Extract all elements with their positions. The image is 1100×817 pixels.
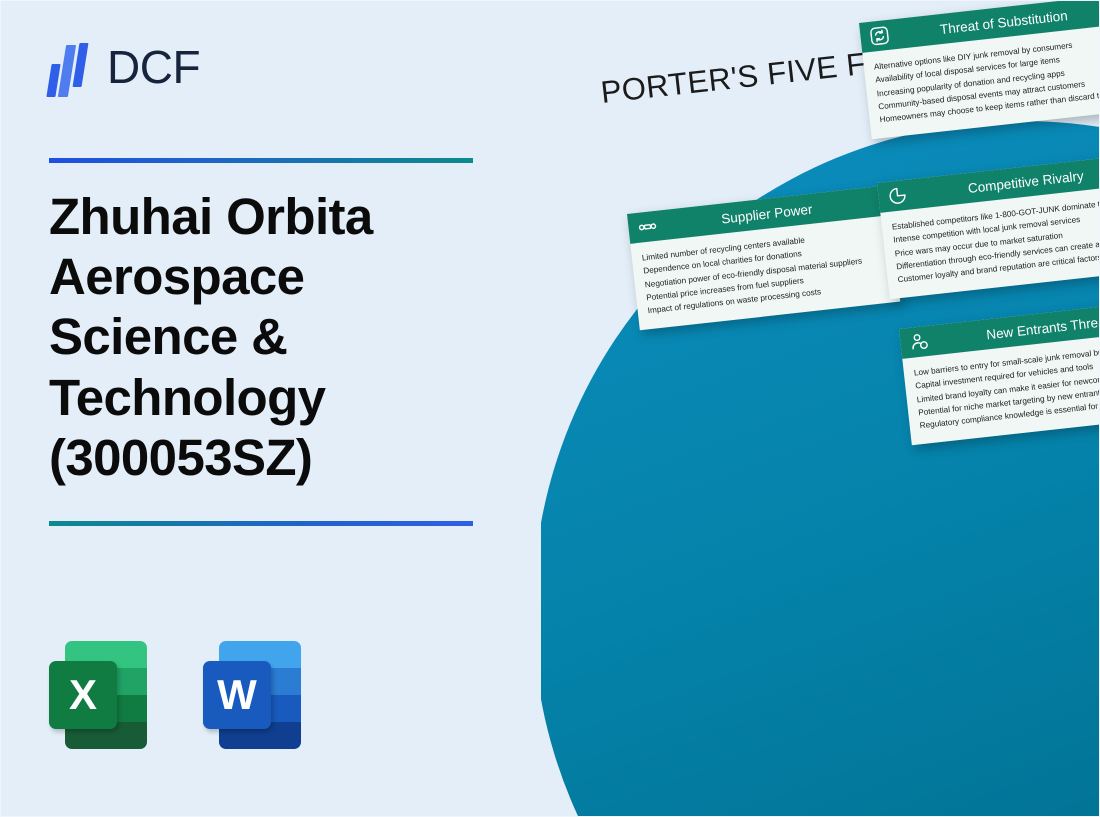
excel-letter: X	[49, 661, 117, 729]
refresh-cycle-icon	[866, 23, 892, 49]
page-title-line: Technology	[49, 368, 489, 428]
page-title-line: Zhuhai Orbita	[49, 187, 489, 247]
left-info-panel: DCF Zhuhai Orbita Aerospace Science & Te…	[1, 1, 541, 817]
brand-name: DCF	[107, 44, 200, 90]
person-add-icon	[906, 329, 932, 355]
title-rule-top	[49, 158, 473, 163]
title-rule-bottom	[49, 521, 473, 526]
handshake-link-icon	[634, 214, 660, 240]
word-letter: W	[203, 661, 271, 729]
page-title-line: Science &	[49, 307, 489, 367]
slide-canvas: DCF Zhuhai Orbita Aerospace Science & Te…	[0, 0, 1100, 817]
dcf-bars-logo-icon	[47, 37, 93, 97]
file-format-icons: X W	[49, 639, 301, 751]
brand-logo: DCF	[47, 37, 200, 97]
page-title: Zhuhai Orbita Aerospace Science & Techno…	[49, 187, 489, 488]
excel-file-icon[interactable]: X	[49, 639, 147, 751]
page-title-line: (300053SZ)	[49, 428, 489, 488]
porters-five-forces-graphic: PORTER'S FIVE FORCES ANALYSIS Threat of …	[541, 1, 1100, 817]
pie-chart-icon	[884, 183, 910, 209]
page-title-line: Aerospace	[49, 247, 489, 307]
force-card-threat-of-substitution[interactable]: Threat of Substitution Alternative optio…	[859, 1, 1100, 140]
word-file-icon[interactable]: W	[203, 639, 301, 751]
